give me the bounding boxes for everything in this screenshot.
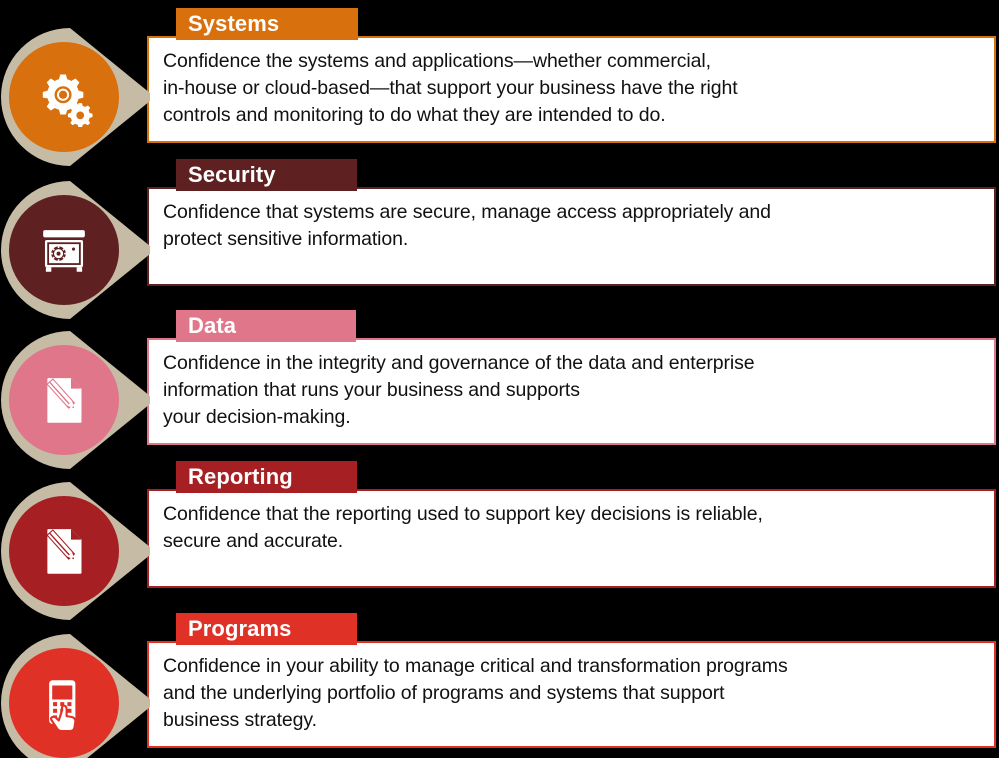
section-title-reporting: Reporting	[188, 466, 293, 488]
section-card-reporting: Confidence that the reporting used to su…	[147, 489, 996, 588]
section-title-systems: Systems	[188, 13, 279, 35]
section-badge-data	[0, 325, 150, 475]
document-pencil-icon	[36, 372, 92, 428]
section-title-data: Data	[188, 315, 236, 337]
report-pencil-icon-wrap	[32, 519, 96, 583]
section-description-reporting: Confidence that the reporting used to su…	[163, 501, 980, 555]
section-tab-programs[interactable]: Programs	[176, 613, 357, 645]
section-badge-reporting	[0, 476, 150, 626]
section-title-security: Security	[188, 164, 276, 186]
section-card-data: Confidence in the integrity and governan…	[147, 338, 996, 445]
section-tab-security[interactable]: Security	[176, 159, 357, 191]
section-badge-systems	[0, 22, 150, 172]
section-tab-data[interactable]: Data	[176, 310, 356, 342]
gears-icon-wrap	[32, 65, 96, 129]
section-title-programs: Programs	[188, 618, 292, 640]
section-badge-security	[0, 175, 150, 325]
section-body-systems: Confidence the systems and applications—…	[149, 38, 994, 137]
section-card-security: Confidence that systems are secure, mana…	[147, 187, 996, 286]
section-description-security: Confidence that systems are secure, mana…	[163, 199, 980, 253]
document-pencil-icon-wrap	[32, 368, 96, 432]
section-body-programs: Confidence in your ability to manage cri…	[149, 643, 994, 742]
mobile-tap-icon	[36, 675, 92, 731]
section-badge-programs	[0, 628, 150, 758]
section-body-security: Confidence that systems are secure, mana…	[149, 189, 994, 261]
section-tab-systems[interactable]: Systems	[176, 8, 358, 40]
section-description-data: Confidence in the integrity and governan…	[163, 350, 980, 431]
section-description-programs: Confidence in your ability to manage cri…	[163, 653, 980, 734]
section-body-data: Confidence in the integrity and governan…	[149, 340, 994, 439]
section-body-reporting: Confidence that the reporting used to su…	[149, 491, 994, 563]
gears-icon	[34, 67, 94, 127]
report-pencil-icon	[36, 523, 92, 579]
section-description-systems: Confidence the systems and applications—…	[163, 48, 980, 129]
safe-vault-icon	[35, 221, 93, 279]
safe-vault-icon-wrap	[32, 218, 96, 282]
diagram-canvas: Confidence the systems and applications—…	[0, 0, 999, 758]
section-tab-reporting[interactable]: Reporting	[176, 461, 357, 493]
section-card-systems: Confidence the systems and applications—…	[147, 36, 996, 143]
section-card-programs: Confidence in your ability to manage cri…	[147, 641, 996, 748]
mobile-tap-icon-wrap	[32, 671, 96, 735]
